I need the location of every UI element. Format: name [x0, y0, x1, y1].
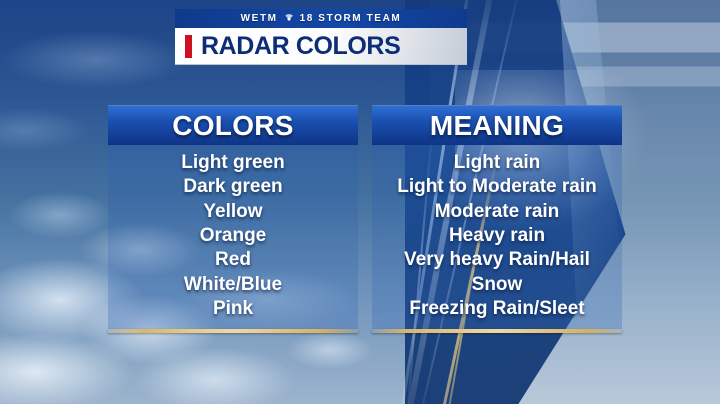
list-item: Dark green	[183, 175, 282, 198]
title-bar: RADAR COLORS	[175, 28, 467, 65]
panel-meaning-body: Light rain Light to Moderate rain Modera…	[372, 145, 622, 329]
panel-colors-gold-rule	[108, 329, 358, 333]
list-item: Orange	[200, 224, 267, 247]
list-item: White/Blue	[184, 273, 282, 296]
list-item: Light rain	[454, 151, 541, 174]
list-item: Very heavy Rain/Hail	[404, 248, 590, 271]
list-item: Light to Moderate rain	[397, 175, 597, 198]
station-branding-bar: WETM 18 STORM TEAM	[175, 9, 467, 28]
list-item: Freezing Rain/Sleet	[409, 297, 584, 320]
list-item: Yellow	[203, 200, 262, 223]
panel-colors-body: Light green Dark green Yellow Orange Red…	[108, 145, 358, 329]
list-item: Pink	[213, 297, 253, 320]
nbc-peacock-icon	[283, 13, 295, 25]
panel-meaning-gold-rule	[372, 329, 622, 333]
red-accent-bar	[185, 35, 192, 58]
station-name-suffix: 18 STORM TEAM	[300, 13, 402, 24]
list-item: Light green	[181, 151, 284, 174]
list-item: Moderate rain	[435, 200, 560, 223]
panel-colors-heading: COLORS	[172, 110, 294, 142]
panel-meaning-header: MEANING	[372, 105, 622, 145]
station-name-prefix: WETM	[241, 13, 278, 24]
weather-graphic-stage: WETM 18 STORM TEAM RADAR COLORS COLORS	[0, 0, 720, 404]
list-item: Red	[215, 248, 251, 271]
list-item: Snow	[472, 273, 523, 296]
panel-colors: COLORS Light green Dark green Yellow Ora…	[108, 105, 358, 333]
panel-meaning-heading: MEANING	[430, 110, 564, 142]
panel-colors-header: COLORS	[108, 105, 358, 145]
list-item: Heavy rain	[449, 224, 545, 247]
panel-meaning: MEANING Light rain Light to Moderate rai…	[372, 105, 622, 333]
page-title: RADAR COLORS	[201, 34, 400, 59]
